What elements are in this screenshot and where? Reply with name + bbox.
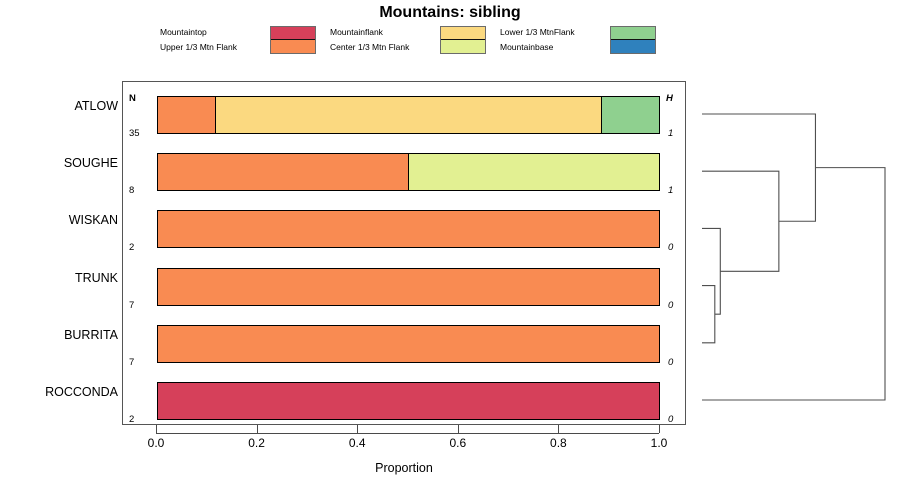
x-axis-line	[156, 433, 659, 434]
legend-label-mountaintop: Mountaintop	[160, 25, 268, 40]
legend-swatch-group-2	[440, 26, 486, 54]
legend-labels: Lower 1/3 MtnFlank Mountainbase	[500, 25, 608, 57]
dendrogram-branch	[702, 171, 779, 271]
row-label-atlow: ATLOW	[0, 99, 118, 113]
legend-swatch-mountainflank	[441, 27, 485, 40]
cell-n-value: 2	[129, 242, 134, 253]
legend-label-center-third-mtn-flank: Center 1/3 Mtn Flank	[330, 40, 438, 55]
legend-label-mountainbase: Mountainbase	[500, 40, 608, 55]
legend-swatch-group-3	[610, 26, 656, 54]
x-axis-title: Proportion	[122, 461, 686, 475]
bar-row[interactable]	[157, 210, 660, 248]
bar-row[interactable]	[157, 325, 660, 363]
cell-n-value: 7	[129, 357, 134, 368]
x-axis-tick-label: 1.0	[639, 436, 679, 450]
cell-h-value: 0	[668, 414, 673, 425]
dendrogram-svg	[690, 60, 900, 440]
dendrogram-branch	[702, 228, 720, 314]
bar-segment[interactable]	[216, 97, 602, 133]
legend-swatch-center-third-mtn-flank	[441, 40, 485, 53]
bar-segment[interactable]	[158, 326, 659, 362]
bar-segment[interactable]	[158, 97, 216, 133]
x-axis-tick	[257, 425, 258, 433]
legend-swatch-group-1	[270, 26, 316, 54]
x-axis-tick	[357, 425, 358, 433]
dendrogram-branch	[702, 168, 885, 400]
legend-swatch-upper-third-mtn-flank	[271, 40, 315, 53]
cell-n-value: 7	[129, 300, 134, 311]
x-axis-tick	[558, 425, 559, 433]
cell-n-value: 2	[129, 414, 134, 425]
x-axis-tick-label: 0.0	[136, 436, 176, 450]
bar-segment[interactable]	[158, 269, 659, 305]
cell-h-value: 0	[668, 300, 673, 311]
bar-row[interactable]	[157, 96, 660, 134]
bar-segment[interactable]	[158, 211, 659, 247]
dendrogram-branch	[702, 286, 715, 343]
legend-swatch-mountaintop	[271, 27, 315, 40]
x-axis-tick-label: 0.2	[237, 436, 277, 450]
bar-segment[interactable]	[158, 383, 659, 419]
page-title: Mountains: sibling	[0, 4, 900, 22]
legend-labels: Mountaintop Upper 1/3 Mtn Flank	[160, 25, 268, 57]
legend: Mountaintop Upper 1/3 Mtn Flank Mountain…	[160, 25, 670, 57]
legend-column-3: Lower 1/3 MtnFlank Mountainbase	[500, 25, 670, 57]
cell-n-value: 8	[129, 185, 134, 196]
plot-root: Mountains: sibling Mountaintop Upper 1/3…	[0, 0, 900, 500]
bar-row[interactable]	[157, 268, 660, 306]
cell-h-value: 0	[668, 357, 673, 368]
row-label-axis: ATLOWSOUGHEWISKANTRUNKBURRITAROCCONDA	[0, 0, 118, 500]
x-axis-tick-label: 0.8	[538, 436, 578, 450]
x-axis-tick	[458, 425, 459, 433]
legend-swatch-mountainbase	[611, 40, 655, 53]
row-label-burrita: BURRITA	[0, 328, 118, 342]
row-label-trunk: TRUNK	[0, 271, 118, 285]
bar-segment[interactable]	[602, 97, 659, 133]
legend-labels: Mountainflank Center 1/3 Mtn Flank	[330, 25, 438, 57]
dendrogram-branch	[702, 114, 815, 221]
bar-chart-panel: N H 3518120707020	[122, 81, 686, 425]
bar-row[interactable]	[157, 153, 660, 191]
row-label-wiskan: WISKAN	[0, 213, 118, 227]
column-header-n: N	[129, 93, 136, 104]
bar-row[interactable]	[157, 382, 660, 420]
cell-h-value: 1	[668, 128, 673, 139]
legend-column-1: Mountaintop Upper 1/3 Mtn Flank	[160, 25, 330, 57]
x-axis-tick	[156, 425, 157, 433]
dendrogram	[690, 60, 900, 440]
cell-n-value: 35	[129, 128, 140, 139]
legend-label-lower-third-mtn-flank: Lower 1/3 MtnFlank	[500, 25, 608, 40]
legend-label-upper-third-mtn-flank: Upper 1/3 Mtn Flank	[160, 40, 268, 55]
column-header-h: H	[666, 93, 673, 104]
x-axis-tick-label: 0.4	[337, 436, 377, 450]
row-label-soughe: SOUGHE	[0, 156, 118, 170]
cell-h-value: 1	[668, 185, 673, 196]
bar-segment[interactable]	[409, 154, 659, 190]
bar-segment[interactable]	[158, 154, 409, 190]
legend-label-mountainflank: Mountainflank	[330, 25, 438, 40]
legend-swatch-lower-third-mtn-flank	[611, 27, 655, 40]
x-axis-tick	[659, 425, 660, 433]
x-axis-tick-label: 0.6	[438, 436, 478, 450]
cell-h-value: 0	[668, 242, 673, 253]
legend-column-2: Mountainflank Center 1/3 Mtn Flank	[330, 25, 500, 57]
row-label-rocconda: ROCCONDA	[0, 385, 118, 399]
x-axis: Proportion 0.00.20.40.60.81.0	[122, 425, 686, 475]
